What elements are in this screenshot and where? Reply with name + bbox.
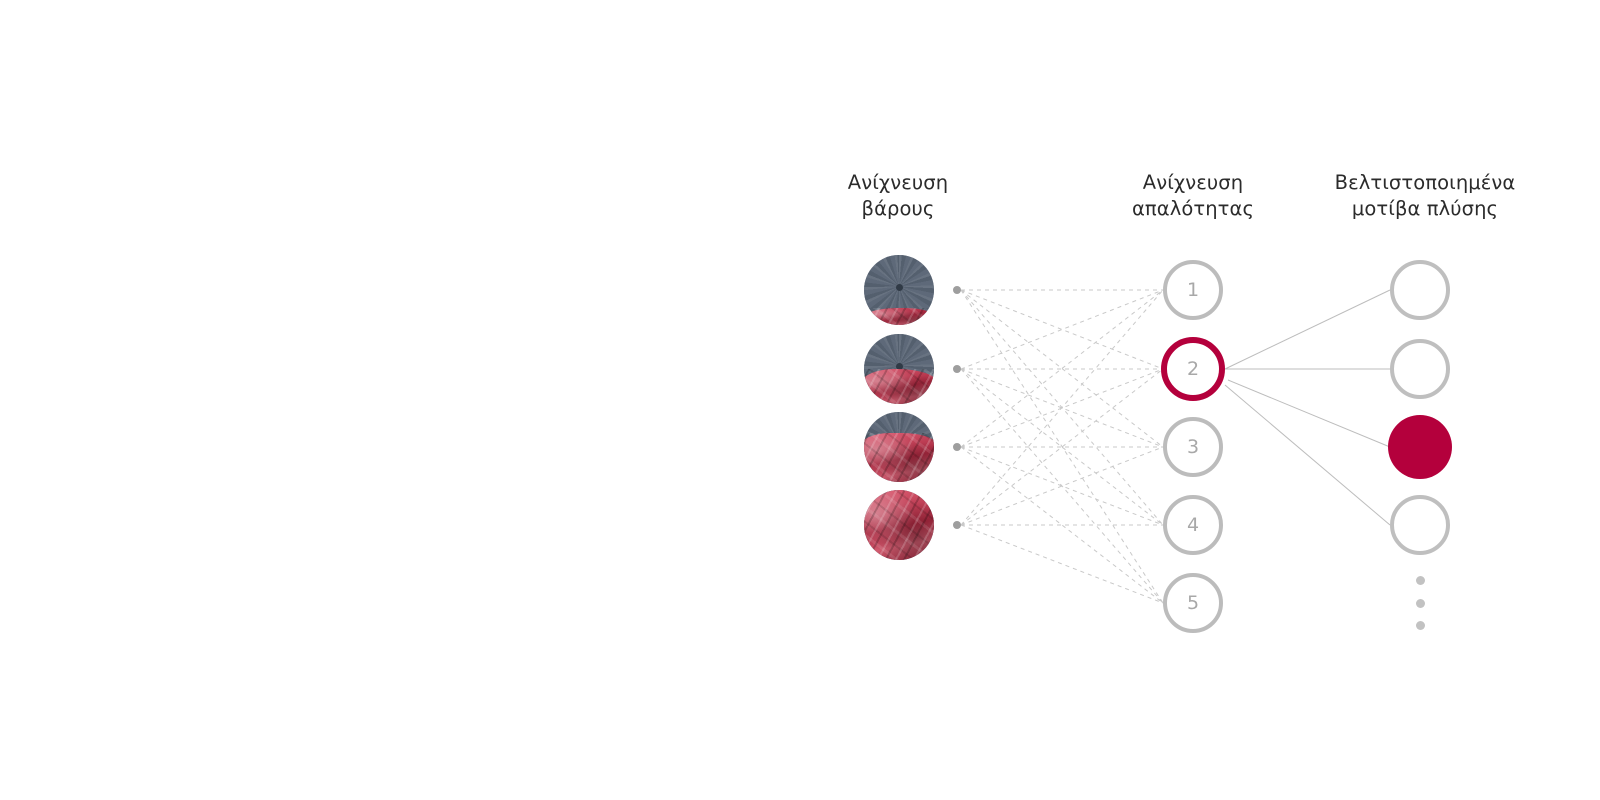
column-title-weight-detection: Ανίχνευση βάρους bbox=[778, 170, 1018, 222]
edges-input-to-hidden bbox=[961, 290, 1163, 603]
laundry-fill bbox=[864, 433, 934, 482]
column-title-softness-detection: Ανίχνευση απαλότητας bbox=[1073, 170, 1313, 222]
drum-photo bbox=[864, 490, 934, 560]
input-link-dot-4 bbox=[953, 521, 961, 529]
laundry-fill bbox=[864, 308, 934, 325]
hidden-node-5[interactable]: 5 bbox=[1163, 573, 1223, 633]
hidden-node-4[interactable]: 4 bbox=[1163, 495, 1223, 555]
ellipsis-dot-1 bbox=[1416, 576, 1425, 585]
input-node-drum-4[interactable] bbox=[864, 490, 934, 560]
hidden-node-label: 3 bbox=[1187, 436, 1199, 458]
input-link-dot-3 bbox=[953, 443, 961, 451]
hidden-node-1[interactable]: 1 bbox=[1163, 260, 1223, 320]
laundry-fill bbox=[864, 369, 934, 404]
ellipsis-dot-2 bbox=[1416, 599, 1425, 608]
hidden-node-2-active[interactable]: 2 bbox=[1161, 337, 1225, 401]
diagram-canvas: Ανίχνευση βάρους Ανίχνευση απαλότητας Βε… bbox=[0, 0, 1600, 800]
drum-photo bbox=[864, 334, 934, 404]
input-node-drum-2[interactable] bbox=[864, 334, 934, 404]
input-node-drum-1[interactable] bbox=[864, 255, 934, 325]
hidden-node-label: 1 bbox=[1187, 279, 1199, 301]
hidden-node-label: 2 bbox=[1187, 358, 1199, 380]
output-node-3-selected[interactable] bbox=[1388, 415, 1452, 479]
drum-photo bbox=[864, 412, 934, 482]
output-node-2[interactable] bbox=[1390, 339, 1450, 399]
hidden-node-label: 4 bbox=[1187, 514, 1199, 536]
edges-hidden-to-output bbox=[1225, 290, 1390, 525]
column-title-optimized-wash-patterns: Βελτιστοποιημένα μοτίβα πλύσης bbox=[1285, 170, 1565, 222]
output-node-1[interactable] bbox=[1390, 260, 1450, 320]
output-node-4[interactable] bbox=[1390, 495, 1450, 555]
ellipsis-dot-3 bbox=[1416, 621, 1425, 630]
input-node-drum-3[interactable] bbox=[864, 412, 934, 482]
drum-photo bbox=[864, 255, 934, 325]
edge-layer bbox=[0, 0, 1600, 800]
laundry-fill bbox=[864, 490, 934, 560]
input-link-dot-1 bbox=[953, 286, 961, 294]
input-link-dot-2 bbox=[953, 365, 961, 373]
hidden-node-3[interactable]: 3 bbox=[1163, 417, 1223, 477]
hidden-node-label: 5 bbox=[1187, 592, 1199, 614]
